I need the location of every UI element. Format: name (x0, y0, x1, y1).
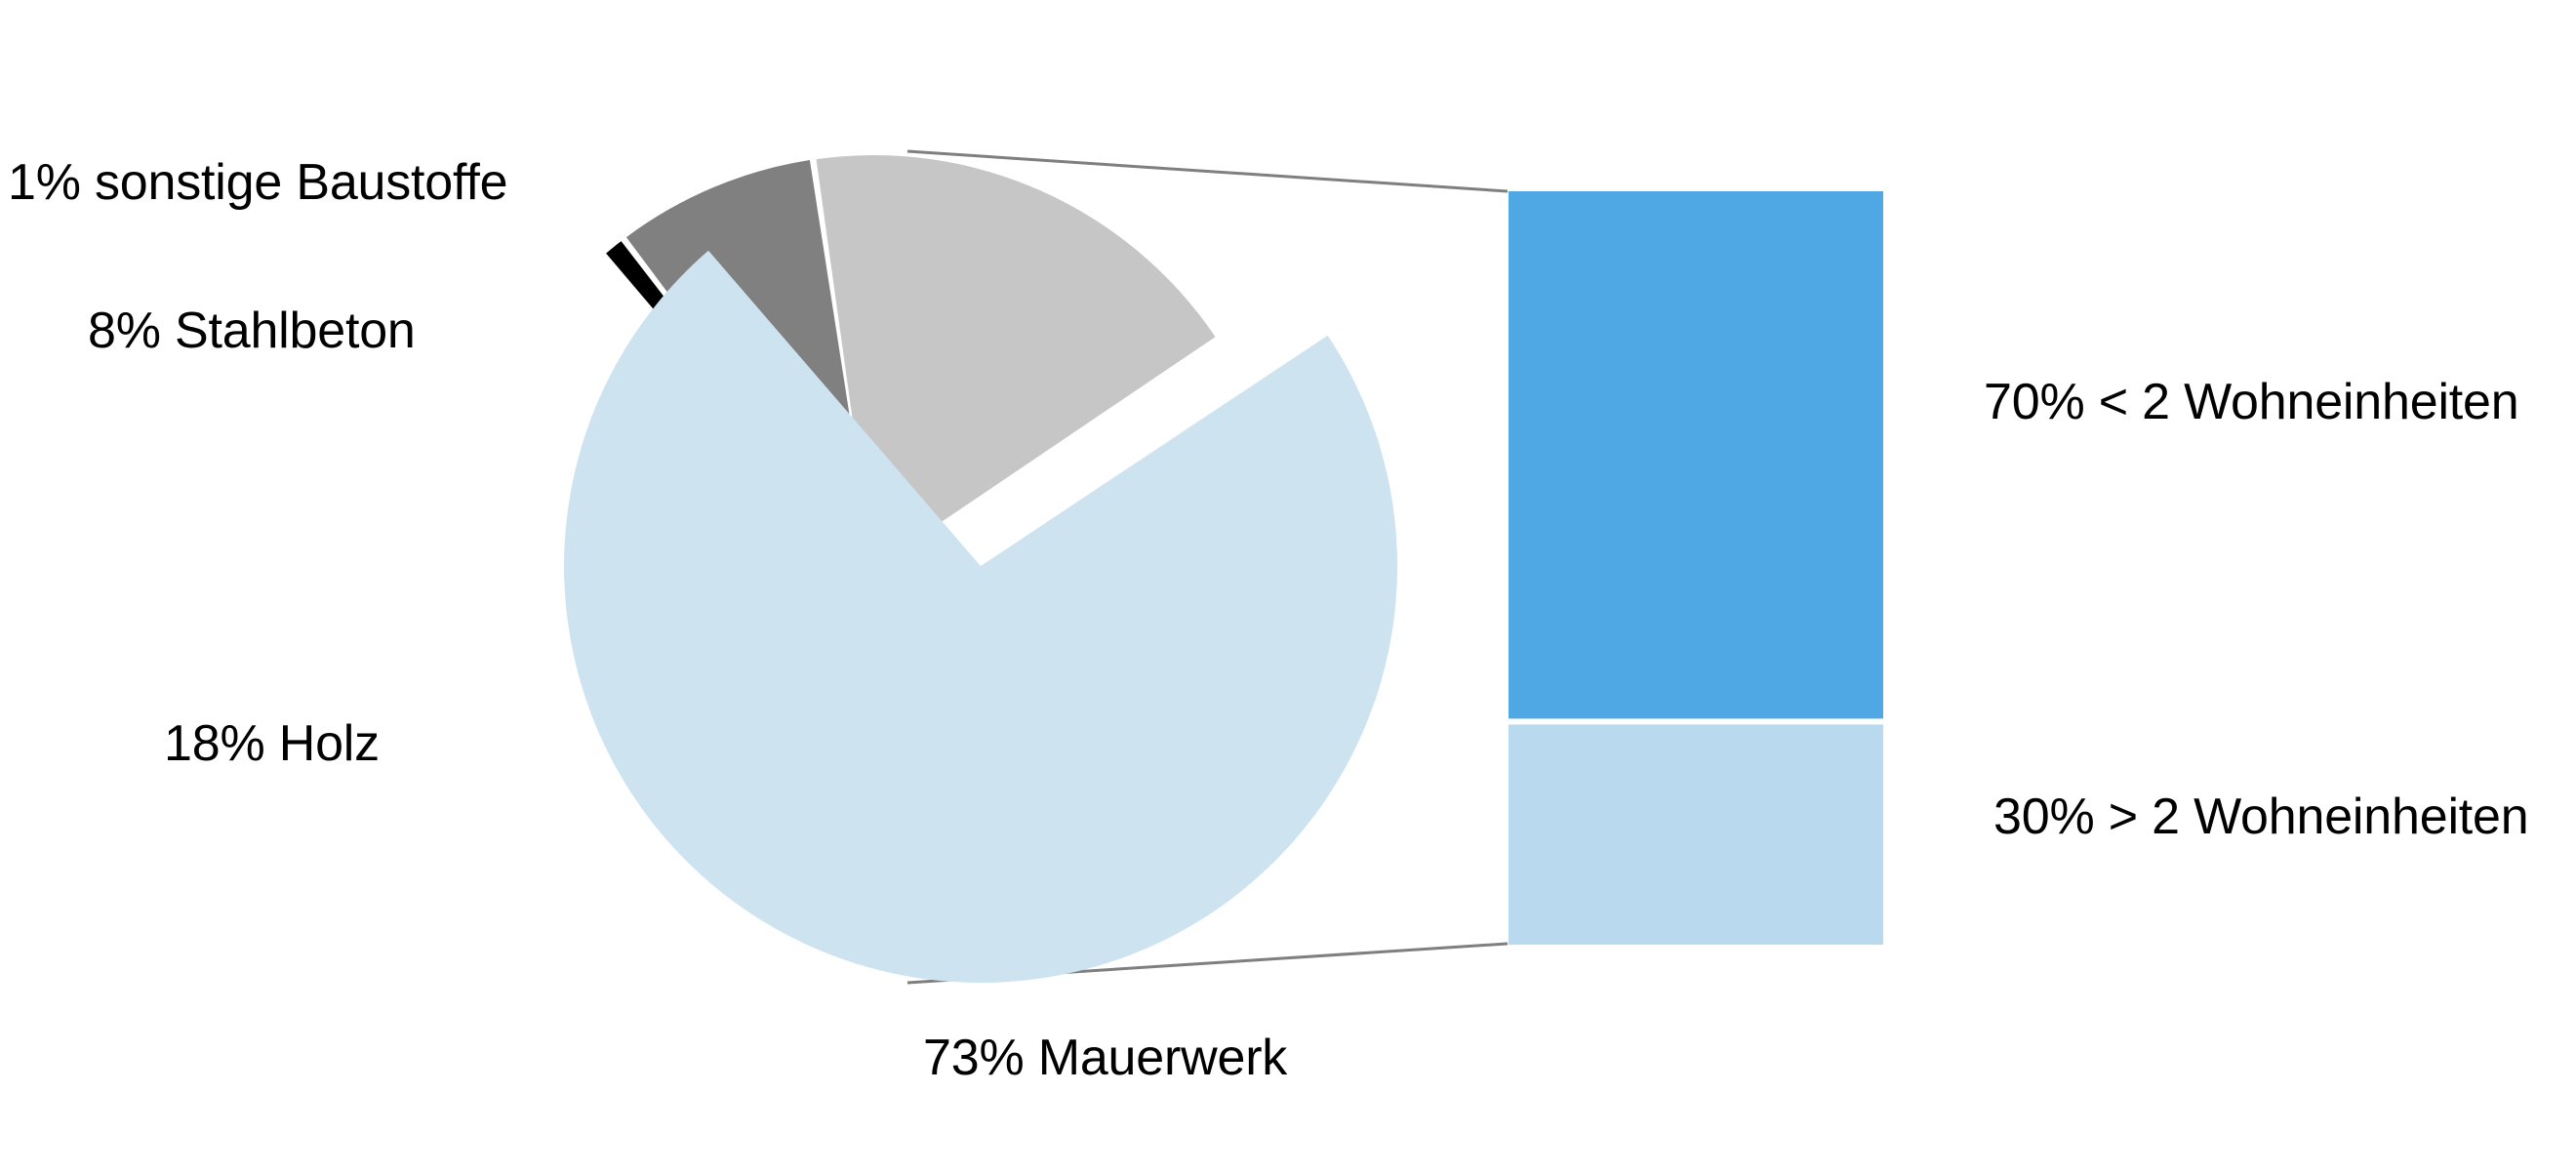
pie-label-sonstige: 1% sonstige Baustoffe (8, 156, 507, 210)
pie-label-holz: 18% Holz (164, 717, 380, 771)
pie-chart (564, 155, 1397, 983)
pie-label-mauerwerk: 73% Mauerwerk (923, 1032, 1287, 1085)
stacked-bar (1509, 191, 1883, 945)
bar-label-unter-2: 70% < 2 Wohneinheiten (1984, 376, 2518, 429)
chart-canvas: 1% sonstige Baustoffe 8% Stahlbeton 18% … (0, 0, 2576, 1174)
pie-label-stahlbeton: 8% Stahlbeton (88, 304, 416, 358)
bar-segment-ueber-2[interactable] (1509, 724, 1883, 945)
bar-segment-unter-2[interactable] (1509, 191, 1883, 718)
bar-label-ueber-2: 30% > 2 Wohneinheiten (1993, 790, 2528, 844)
